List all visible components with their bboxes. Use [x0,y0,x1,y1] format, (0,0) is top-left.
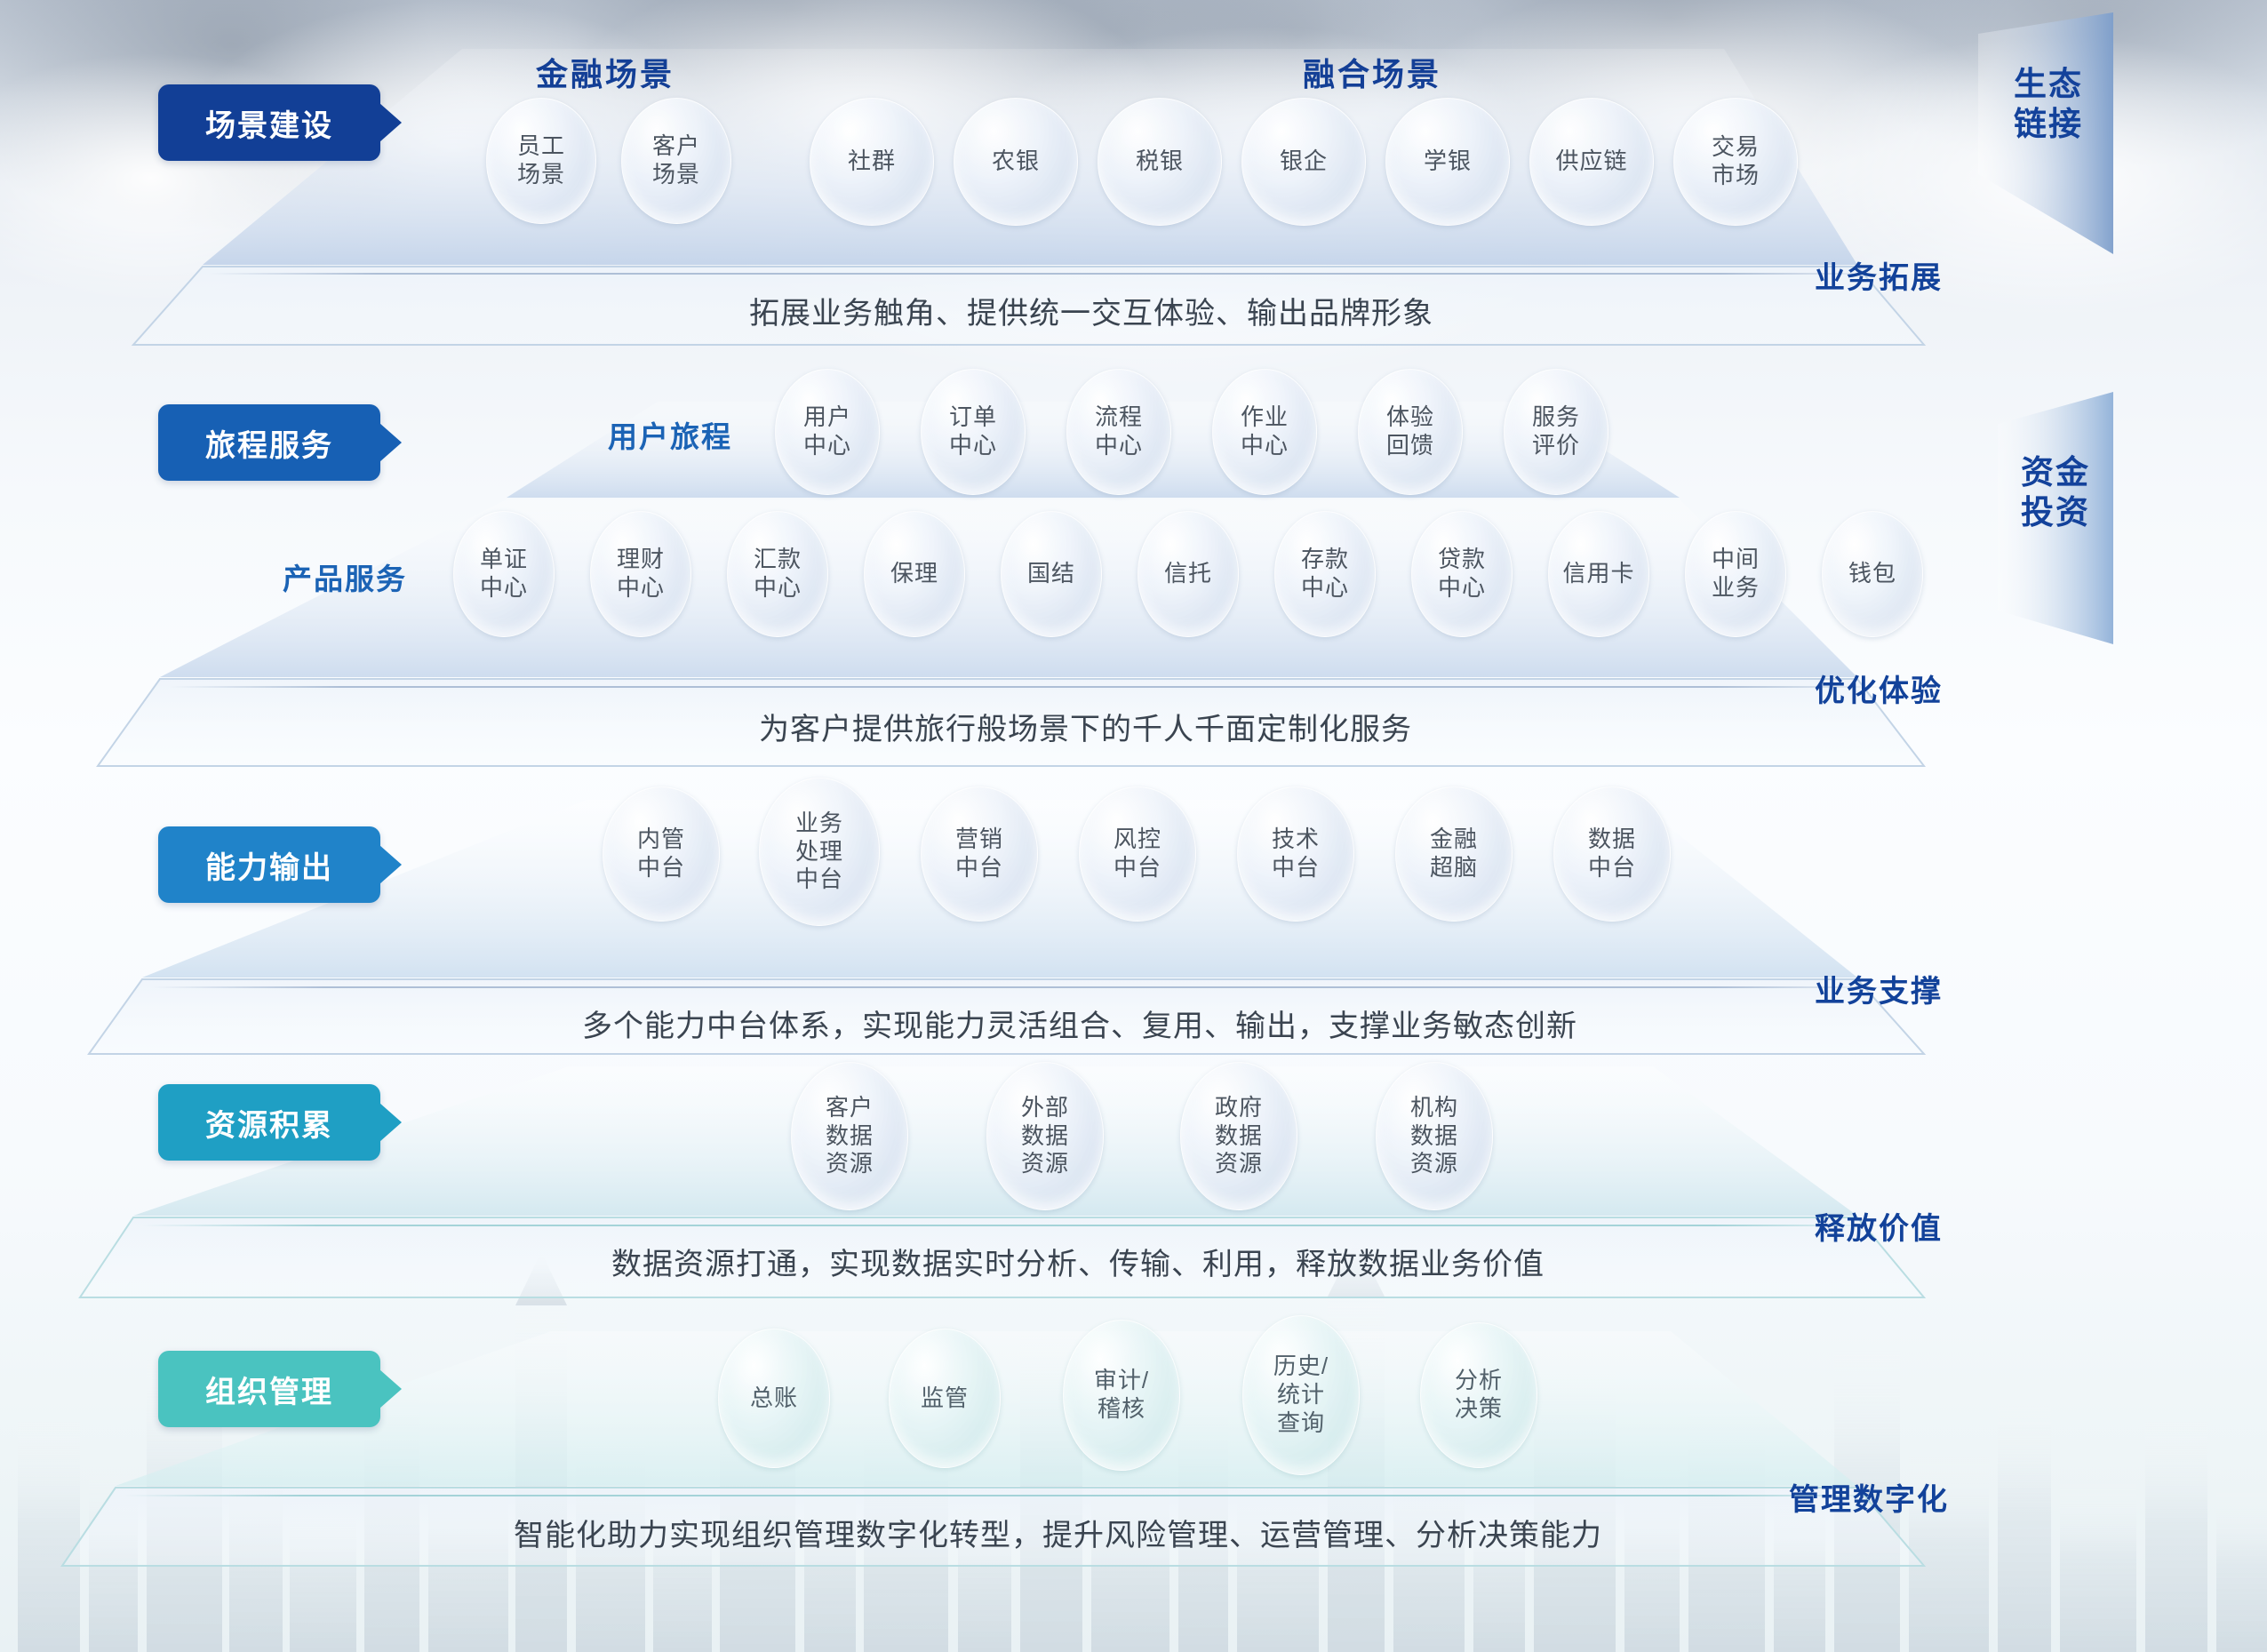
row-title-product-service: 产品服务 [283,555,407,598]
bubble-tier5-0[interactable]: 总账 [718,1329,830,1468]
side-panel-funding-label: 资金 投资 [1998,452,2113,532]
bubble-tier2-journey-2[interactable]: 流程 中心 [1066,369,1171,495]
bubble-tier2-product-5[interactable]: 信托 [1137,511,1239,637]
caption-tier3: 多个能力中台体系，实现能力灵活组合、复用、输出，支撑业务敏态创新 [582,1002,1577,1045]
right-label-business-expansion: 业务拓展 [1815,253,1943,297]
bubble-tier2-product-10[interactable]: 钱包 [1822,511,1923,637]
caption-tier1: 拓展业务触角、提供统一交互体验、输出品牌形象 [749,289,1433,332]
bubble-tier1-0[interactable]: 员工 场景 [486,98,596,224]
tier-tag-capability-output-label: 能力输出 [205,843,333,887]
bubble-tier4-0[interactable]: 客户 数据 资源 [791,1062,908,1210]
bubble-tier2-product-1[interactable]: 理财 中心 [590,511,691,637]
bubble-tier2-product-0[interactable]: 单证 中心 [453,511,555,637]
bubble-tier1-1[interactable]: 客户 场景 [621,98,731,224]
bubble-tier2-product-3[interactable]: 保理 [864,511,965,637]
tier-tag-resource-accumulation[interactable]: 资源积累 [158,1084,380,1161]
tier-tag-journey-service-label: 旅程服务 [205,421,333,465]
divider-tier2 [169,686,1888,688]
tier-tag-organization-management-label: 组织管理 [205,1368,333,1411]
tier-tag-capability-output[interactable]: 能力输出 [158,826,380,903]
row-title-user-journey: 用户旅程 [608,413,732,456]
bubble-tier2-journey-3[interactable]: 作业 中心 [1212,369,1317,495]
tier-tag-scenario-building-label: 场景建设 [205,101,333,145]
right-label-optimize-experience: 优化体验 [1815,666,1943,710]
divider-tier4 [142,1225,1888,1226]
right-label-release-value: 释放价值 [1815,1204,1943,1248]
divider-tier5 [124,1495,1888,1496]
side-panel-ecosystem-label: 生态 链接 [1991,64,2106,144]
bubble-tier3-5[interactable]: 金融 超脑 [1395,786,1513,922]
bubble-tier4-1[interactable]: 外部 数据 资源 [986,1062,1104,1210]
right-label-business-support: 业务支撑 [1815,967,1943,1010]
bubble-tier2-product-6[interactable]: 存款 中心 [1274,511,1376,637]
group-title-financial-scenario: 金融场景 [536,49,675,95]
bubble-tier5-1[interactable]: 监管 [889,1329,1001,1468]
bubble-tier5-3[interactable]: 历史/ 统计 查询 [1242,1315,1360,1475]
divider-tier1 [209,273,1888,275]
caption-tier2: 为客户提供旅行般场景下的千人千面定制化服务 [759,705,1412,748]
bubble-tier2-journey-4[interactable]: 体验 回馈 [1358,369,1463,495]
bubble-tier3-1[interactable]: 业务 处理 中台 [759,778,880,926]
bubble-tier3-2[interactable]: 营销 中台 [921,786,1038,922]
caption-tier5: 智能化助力实现组织管理数字化转型，提升风险管理、运营管理、分析决策能力 [514,1511,1602,1554]
tier-tag-organization-management[interactable]: 组织管理 [158,1351,380,1427]
bubble-tier2-journey-1[interactable]: 订单 中心 [921,369,1026,495]
bubble-tier2-journey-0[interactable]: 用户 中心 [775,369,880,495]
bubble-tier5-2[interactable]: 审计/ 稽核 [1063,1320,1180,1471]
bubble-tier1-5[interactable]: 银企 [1241,98,1366,226]
bubble-tier4-2[interactable]: 政府 数据 资源 [1180,1062,1297,1210]
tier-tag-resource-accumulation-label: 资源积累 [205,1101,333,1145]
bubble-tier2-product-9[interactable]: 中间 业务 [1685,511,1786,637]
bubble-tier3-3[interactable]: 风控 中台 [1079,786,1196,922]
bubble-tier2-product-4[interactable]: 国结 [1001,511,1102,637]
group-title-integrated-scenario: 融合场景 [1303,49,1441,95]
bubble-tier1-4[interactable]: 税银 [1098,98,1222,226]
bubble-tier1-8[interactable]: 交易 市场 [1673,98,1798,226]
side-panel-funding: 资金 投资 [1946,378,2213,671]
bubble-tier5-4[interactable]: 分析 决策 [1420,1322,1537,1468]
bubble-tier1-3[interactable]: 农银 [954,98,1078,226]
side-panel-ecosystem: 生态 链接 [1946,0,2213,293]
divider-tier3 [151,986,1888,988]
tier-tag-journey-service[interactable]: 旅程服务 [158,404,380,481]
bubble-tier3-0[interactable]: 内管 中台 [603,786,720,922]
bubble-tier2-product-2[interactable]: 汇款 中心 [727,511,828,637]
tier-tag-scenario-building[interactable]: 场景建设 [158,84,380,161]
bubble-tier2-journey-5[interactable]: 服务 评价 [1504,369,1608,495]
bubble-tier1-6[interactable]: 学银 [1385,98,1510,226]
bubble-tier1-7[interactable]: 供应链 [1529,98,1654,226]
bubble-tier3-4[interactable]: 技术 中台 [1237,786,1354,922]
caption-tier4: 数据资源打通，实现数据实时分析、传输、利用，释放数据业务价值 [611,1240,1545,1283]
right-label-management-digitalization: 管理数字化 [1789,1475,1949,1519]
bubble-tier4-3[interactable]: 机构 数据 资源 [1376,1062,1493,1210]
bubble-tier1-2[interactable]: 社群 [810,98,934,226]
bubble-tier3-6[interactable]: 数据 中台 [1553,786,1671,922]
bubble-tier2-product-7[interactable]: 贷款 中心 [1411,511,1513,637]
bubble-tier2-product-8[interactable]: 信用卡 [1548,511,1649,637]
